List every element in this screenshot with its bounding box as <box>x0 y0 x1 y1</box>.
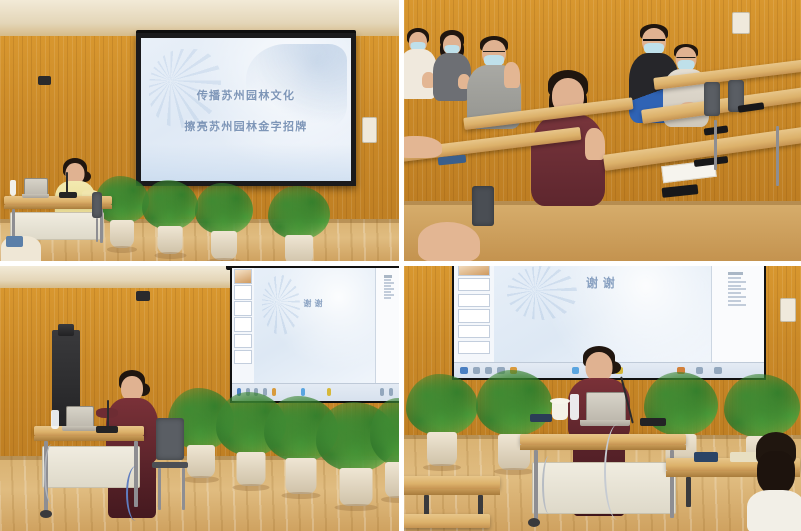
plant-pot <box>286 458 317 494</box>
microphone-base <box>640 418 666 426</box>
eyeglasses <box>677 57 696 58</box>
pane-field[interactable] <box>384 297 391 299</box>
slide-thumbnail[interactable] <box>234 269 252 284</box>
torso <box>747 490 801 531</box>
laptop-base <box>62 426 96 431</box>
slide-thumbnail[interactable] <box>458 325 490 338</box>
sanitizer-bottle <box>51 410 59 429</box>
classroom-table <box>404 514 490 528</box>
slide-thumbnail[interactable] <box>234 301 252 316</box>
plant-pot <box>110 220 134 248</box>
desk-edge <box>34 436 144 441</box>
pane-title-bar <box>384 275 392 278</box>
table-leg <box>714 120 717 170</box>
pane-field[interactable] <box>728 288 746 290</box>
laptop-screen <box>586 392 626 422</box>
plant-foliage <box>724 374 800 438</box>
table-leg <box>686 477 691 507</box>
ceiling-camera-icon <box>136 291 150 301</box>
pane-field[interactable] <box>384 294 394 296</box>
presenter-desk <box>520 434 686 445</box>
eyeglasses <box>643 39 665 41</box>
desk-caster <box>528 518 540 527</box>
pane-field[interactable] <box>384 279 391 281</box>
ceiling-camera-icon <box>38 76 51 85</box>
pane-title-bar <box>728 272 743 275</box>
plant-pot <box>187 445 215 478</box>
phone-on-table <box>694 452 718 462</box>
slide-canvas: 谢谢 <box>254 268 374 384</box>
projection-screen: 传播苏州园林文化 擦亮苏州园林金字招牌 <box>136 33 356 186</box>
potted-plant <box>142 180 198 254</box>
microphone-base <box>96 426 118 433</box>
photo-panel-top-right <box>404 0 801 261</box>
wall-outlet <box>732 12 750 34</box>
slide-thank-you-text: 谢谢 <box>494 274 711 291</box>
pane-field[interactable] <box>728 285 741 287</box>
potted-plant <box>195 183 253 260</box>
plant-foliage <box>370 398 399 466</box>
photo-panel-bottom-left: 谢谢 <box>0 266 399 531</box>
slide-headline-1: 传播苏州园林文化 <box>141 87 351 103</box>
slide-water-motif <box>141 144 351 181</box>
plant-pot <box>427 432 457 466</box>
tray-icon[interactable] <box>380 388 384 396</box>
tray-icon[interactable] <box>389 388 393 396</box>
speaker-top <box>58 324 74 336</box>
plant-foliage <box>476 370 552 436</box>
slide-headline-2: 擦亮苏州园林金字招牌 <box>141 118 351 134</box>
potted-plant <box>406 374 478 466</box>
plant-foliage <box>406 374 478 436</box>
plant-foliage <box>142 180 198 230</box>
slide-thumbnail[interactable] <box>234 334 252 349</box>
plant-pot <box>158 226 183 254</box>
pane-field[interactable] <box>728 281 746 283</box>
chair-back <box>156 418 184 460</box>
slide-thumbnail[interactable] <box>458 266 490 276</box>
foreground-clapping-hands <box>418 222 488 261</box>
eyeglasses <box>483 51 505 52</box>
microphone-stand <box>66 172 68 194</box>
desk-leg <box>534 450 538 522</box>
audience-scene <box>404 0 801 261</box>
projected-slide: 传播苏州园林文化 擦亮苏州园林金字招牌 <box>141 38 351 181</box>
power-cable <box>126 466 146 521</box>
chair-back <box>92 192 102 218</box>
lecture-room-scene: 传播苏州园林文化 擦亮苏州园林金字招牌 <box>0 0 399 261</box>
slide-thumbnail-strip[interactable] <box>232 268 255 384</box>
plant-foliage <box>268 186 330 240</box>
tea-cup-lid <box>550 398 570 404</box>
microphone-base <box>59 192 77 198</box>
slide-thumbnail[interactable] <box>458 278 490 291</box>
laptop-screen <box>66 406 94 428</box>
laptop-base <box>22 194 49 198</box>
chair-back <box>704 82 720 116</box>
photo-collage: 传播苏州园林文化 擦亮苏州园林金字招牌 <box>0 0 801 531</box>
slide-thumbnail[interactable] <box>458 341 490 354</box>
chair-leg <box>182 468 185 510</box>
plant-pot <box>340 468 373 506</box>
slide-thank-you-text: 谢谢 <box>254 298 374 309</box>
plant-pot <box>285 235 313 261</box>
slide-thumbnail[interactable] <box>234 350 252 365</box>
power-cable <box>44 444 60 504</box>
pane-field[interactable] <box>384 282 394 284</box>
photo-panel-bottom-right: 谢谢 <box>404 266 801 531</box>
water-bottle <box>10 180 16 196</box>
wall-outlet <box>362 117 377 143</box>
desk-edge <box>520 445 686 450</box>
potted-plant <box>268 186 330 261</box>
notebook-on-desk <box>530 414 552 422</box>
pane-field[interactable] <box>728 292 741 294</box>
clapping-hands <box>585 128 605 160</box>
desk-edge <box>404 489 500 495</box>
powerpoint-screen: 谢谢 <box>230 266 399 403</box>
format-pane[interactable] <box>375 268 399 384</box>
format-pane[interactable] <box>711 266 764 363</box>
pane-field[interactable] <box>728 277 741 279</box>
microphone-stand <box>107 400 109 428</box>
slide-thumbnail[interactable] <box>234 285 252 300</box>
hand <box>418 222 480 261</box>
foreground-attendee <box>746 432 801 531</box>
slide-thumbnail-strip[interactable] <box>454 266 495 363</box>
plant-pot <box>237 452 266 486</box>
slide-thumbnail[interactable] <box>458 294 490 307</box>
plant-pot <box>211 231 237 260</box>
hand <box>404 136 442 158</box>
hair <box>756 432 796 466</box>
chair-leg <box>158 468 161 510</box>
water-bottle <box>570 394 579 420</box>
presenter-side-scene: 谢谢 <box>0 266 399 531</box>
phone-screen <box>6 236 23 247</box>
wall-outlet <box>780 298 796 322</box>
power-cable <box>604 424 632 520</box>
slide-thumbnail[interactable] <box>458 309 490 322</box>
plant-foliage <box>195 183 253 235</box>
audience-member <box>662 44 710 140</box>
slide-thumbnail[interactable] <box>234 317 252 332</box>
photo-panel-top-left: 传播苏州园林文化 擦亮苏州园林金字招牌 <box>0 0 399 261</box>
foreground-hand <box>404 136 450 170</box>
desk-caster <box>40 510 52 518</box>
plant-foliage <box>644 372 718 436</box>
power-cable <box>542 456 556 514</box>
laptop-base <box>580 420 630 426</box>
plant-pot <box>385 462 399 498</box>
pane-field[interactable] <box>384 285 391 287</box>
pane-field[interactable] <box>384 291 391 293</box>
chair-back <box>472 186 494 226</box>
pane-field[interactable] <box>728 300 741 302</box>
potted-plant <box>370 398 399 498</box>
pane-field[interactable] <box>728 304 746 306</box>
pane-field[interactable] <box>384 288 394 290</box>
start-icon[interactable] <box>460 367 467 374</box>
classroom-table <box>404 476 500 489</box>
chair-leg <box>96 218 98 242</box>
pane-field[interactable] <box>728 296 746 298</box>
table-leg <box>776 126 779 186</box>
presenter-front-scene: 谢谢 <box>404 266 801 531</box>
tea-cup <box>552 402 568 420</box>
clapping-hands <box>504 62 520 88</box>
